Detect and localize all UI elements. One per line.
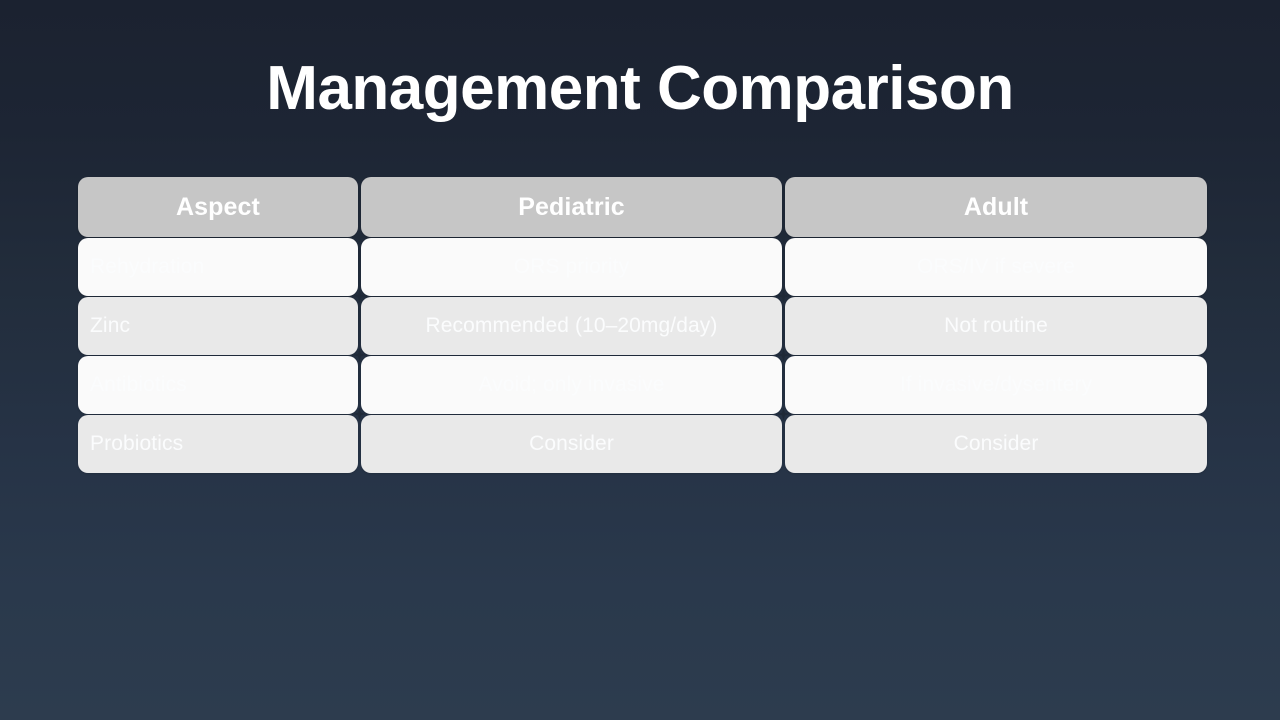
cell-pediatric[interactable]: Avoid; only invasive	[361, 356, 782, 414]
cell-text-pediatric: Avoid; only invasive	[478, 373, 664, 397]
cell-text-pediatric: Recommended (10–20mg/day)	[426, 314, 718, 338]
header-cell-aspect[interactable]: Aspect	[78, 177, 358, 237]
cell-text-aspect: Probiotics	[90, 432, 183, 456]
cell-adult[interactable]: Not routine	[785, 297, 1207, 355]
cell-text-pediatric: ORS priority	[514, 255, 630, 279]
header-label-adult: Adult	[964, 193, 1028, 222]
slide-root: Management Comparison Aspect Pediatric A…	[0, 0, 1280, 720]
cell-pediatric[interactable]: Consider	[361, 415, 782, 473]
table-row: Antibiotics Avoid; only invasive If inva…	[78, 356, 1204, 414]
header-label-aspect: Aspect	[176, 193, 260, 222]
cell-text-adult: Not routine	[944, 314, 1048, 338]
cell-pediatric[interactable]: ORS priority	[361, 238, 782, 296]
header-cell-adult[interactable]: Adult	[785, 177, 1207, 237]
cell-adult[interactable]: Consider	[785, 415, 1207, 473]
table-header-row: Aspect Pediatric Adult	[78, 177, 1204, 237]
cell-aspect[interactable]: Probiotics	[78, 415, 358, 473]
cell-text-aspect: Antibiotics	[90, 373, 187, 397]
column-gap-seam	[358, 177, 361, 474]
cell-text-adult: ORS/IV if severe	[917, 255, 1075, 279]
page-title: Management Comparison	[0, 55, 1280, 123]
cell-aspect[interactable]: Zinc	[78, 297, 358, 355]
cell-text-aspect: Rehydration	[90, 255, 204, 279]
cell-text-adult: If invasive/dysentery	[900, 373, 1092, 397]
table-row: Probiotics Consider Consider	[78, 415, 1204, 473]
table-row: Zinc Recommended (10–20mg/day) Not routi…	[78, 297, 1204, 355]
cell-aspect[interactable]: Rehydration	[78, 238, 358, 296]
comparison-table: Aspect Pediatric Adult Rehydration ORS p…	[78, 177, 1204, 474]
header-cell-pediatric[interactable]: Pediatric	[361, 177, 782, 237]
cell-text-pediatric: Consider	[529, 432, 614, 456]
cell-text-aspect: Zinc	[90, 314, 130, 338]
cell-aspect[interactable]: Antibiotics	[78, 356, 358, 414]
cell-text-adult: Consider	[954, 432, 1039, 456]
cell-adult[interactable]: ORS/IV if severe	[785, 238, 1207, 296]
header-label-pediatric: Pediatric	[518, 193, 625, 222]
cell-pediatric[interactable]: Recommended (10–20mg/day)	[361, 297, 782, 355]
column-gap-seam	[782, 177, 785, 474]
cell-adult[interactable]: If invasive/dysentery	[785, 356, 1207, 414]
table-row: Rehydration ORS priority ORS/IV if sever…	[78, 238, 1204, 296]
